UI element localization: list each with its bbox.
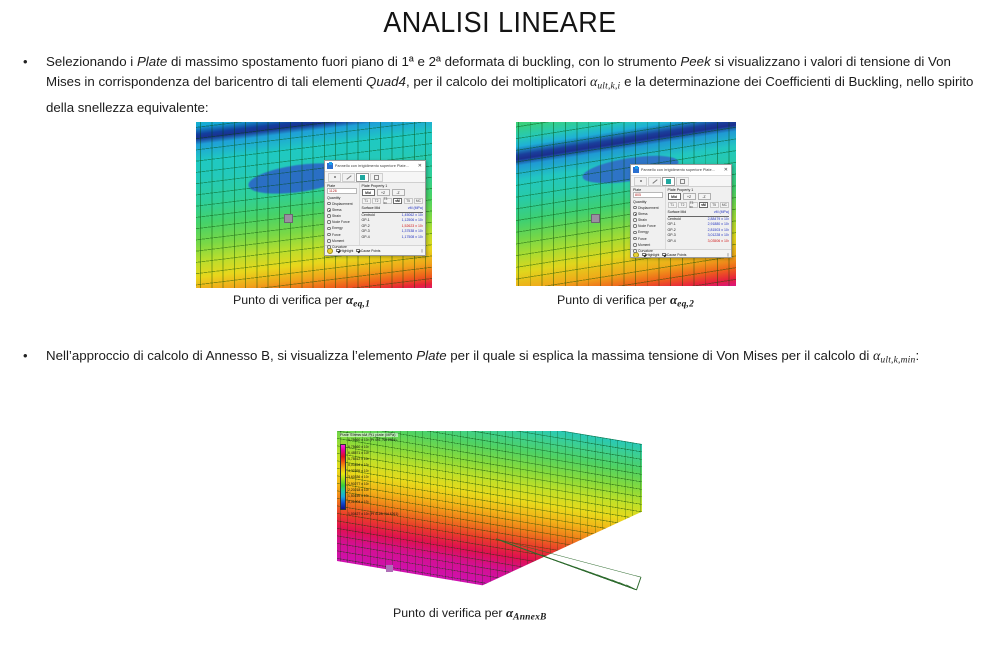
radio-icon[interactable] [633, 212, 637, 216]
femap-app-icon [327, 163, 333, 169]
math-subscript: eq,2 [677, 300, 694, 310]
radio-label: Energy [638, 230, 649, 234]
cause-points-checkbox[interactable]: Cause Points [662, 253, 686, 257]
legend-level: 2,20218 x 10² [348, 487, 369, 493]
peek-title-text: Pannello con irrigidimento superiore Pla… [641, 168, 722, 172]
radio-label: Node Force [638, 224, 656, 228]
resize-grip-icon[interactable]: ⸨ [727, 252, 729, 258]
tab-grid[interactable] [676, 177, 689, 186]
legend-level: 8,01004 x 10¹ [348, 499, 369, 505]
result-value: 1,17508 x 10² [390, 235, 423, 241]
figure-row-top: Pannello con irrigidimento superiore Pla… [0, 122, 1000, 322]
contour-legend: Plate Stress vM Pt1 plate (MPa) 6,75660 … [340, 433, 398, 517]
figure-caption-2: Punto di verifica per αeq,2 [557, 292, 694, 310]
radio-icon[interactable] [327, 245, 331, 249]
legend-color-bar [340, 444, 346, 510]
component-button-t1[interactable]: T1 [362, 198, 371, 205]
fem-contour-figure-2: Pannello con irrigidimento superiore Pla… [516, 122, 736, 286]
plate-id-input[interactable]: 805 [633, 192, 663, 198]
math-subscript: AnnexB [513, 613, 546, 623]
quantity-radio-list-2[interactable]: DisplacementStressStrainNode ForceEnergy… [633, 205, 663, 255]
figure-caption-3: Punto di verifica per αAnnexB [393, 605, 547, 623]
legend-level-values: 6,75660 x 10²6,48571 x 10²5,78512 x 10²5… [348, 444, 369, 510]
radio-icon[interactable] [633, 224, 637, 228]
component-button-t1[interactable]: T1 [668, 202, 677, 209]
radio-icon[interactable] [633, 243, 637, 247]
radio-label: Force [332, 233, 341, 237]
highlight-checkbox[interactable]: Highlight [336, 249, 353, 253]
radio-label: Stress [332, 208, 342, 212]
highlight-checkbox[interactable]: Highlight [642, 253, 659, 257]
math-subscript: ult,k,i [597, 82, 620, 92]
max-stress-plate-marker [386, 565, 393, 572]
tab-grid[interactable] [370, 173, 383, 182]
radio-icon[interactable] [327, 220, 331, 224]
radio-label: Strain [332, 214, 341, 218]
component-button-vm[interactable]: vM [699, 202, 708, 209]
surface-button-z[interactable]: +Z [377, 189, 390, 196]
component-button-mc[interactable]: MC [414, 198, 423, 205]
radio-label: Node Force [332, 220, 350, 224]
radio-icon[interactable] [633, 218, 637, 222]
figure-caption-1: Punto di verifica per αeq,1 [233, 292, 370, 310]
radio-icon[interactable] [327, 202, 331, 206]
radio-label: Energy [332, 226, 343, 230]
peek-titlebar-1[interactable]: Pannello con irrigidimento superiore Pla… [325, 161, 425, 172]
result-name: GP-4 [362, 235, 391, 241]
math-symbol: αAnnexB [506, 605, 547, 620]
surface-button-z[interactable]: -Z [698, 193, 711, 200]
emphasis-term: Peek [680, 54, 710, 69]
peek-quantity-panel-2: Plate 805 Quantity DisplacementStressStr… [631, 187, 666, 249]
component-button-t5[interactable]: T5 [404, 198, 413, 205]
component-button-mc[interactable]: MC [720, 202, 729, 209]
tab-dot[interactable] [634, 177, 647, 186]
tab-pen[interactable] [342, 173, 355, 182]
component-button-t3xx[interactable]: T3 xx [689, 202, 698, 209]
component-button-row-1[interactable]: T1T2T3 xxvMT5MC [362, 198, 424, 205]
radio-icon[interactable] [633, 206, 637, 210]
plate-property-label: Plate Property 1 [362, 184, 424, 188]
bullet-marker: • [20, 52, 46, 118]
radio-icon[interactable] [633, 231, 637, 235]
legend-level: 1,50159 x 10² [348, 493, 369, 499]
radio-icon[interactable] [327, 227, 331, 231]
math-subscript: ult,k,min [880, 356, 915, 366]
radio-icon[interactable] [633, 249, 637, 253]
legend-min-annotation: 1,00427 x 10² (Pt 4128, Nd 4261) [348, 511, 398, 517]
surface-button-z[interactable]: +Z [683, 193, 696, 200]
selected-plate-element-2 [591, 214, 600, 223]
peek-quantity-panel-1: Plate 1126 Quantity DisplacementStressSt… [325, 183, 360, 245]
peek-tabbar-1[interactable] [325, 172, 425, 183]
stiffener-fan-elements [496, 535, 642, 599]
femap-app-icon [633, 167, 639, 173]
tab-contour[interactable] [662, 177, 675, 186]
radio-icon[interactable] [327, 239, 331, 243]
quantity-group-label: Quantity [633, 200, 663, 204]
radio-icon[interactable] [327, 214, 331, 218]
peek-dialog-1[interactable]: Pannello con irrigidimento superiore Pla… [324, 160, 426, 256]
component-button-t2[interactable]: T2 [678, 202, 687, 209]
surface-button-row-2[interactable]: Mid+Z-Z [668, 193, 730, 200]
emphasis-term: Quad4 [366, 74, 406, 89]
component-button-t2[interactable]: T2 [372, 198, 381, 205]
close-icon[interactable]: ✕ [418, 164, 423, 169]
peek-titlebar-2[interactable]: Pannello con irrigidimento superiore Pla… [631, 165, 731, 176]
bullet-text-1: Selezionando i Plate di massimo spostame… [46, 52, 978, 118]
peek-dialog-2[interactable]: Pannello con irrigidimento superiore Pla… [630, 164, 732, 258]
peek-results-panel-1: Plate Property 1 Mid+Z-Z T1T2T3 xxvMT5MC… [360, 183, 426, 245]
bullet-paragraph-1: • Selezionando i Plate di massimo sposta… [0, 52, 1000, 118]
surface-button-mid[interactable]: Mid [362, 189, 375, 196]
radio-label: Stress [638, 212, 648, 216]
quantity-radio-list-1[interactable]: DisplacementStressStrainNode ForceEnergy… [327, 201, 357, 251]
legend-level: 2,90277 x 10² [348, 481, 369, 487]
bullet-paragraph-2: • Nell’approccio di calcolo di Annesso B… [0, 346, 1000, 371]
legend-level: 3,60336 x 10² [348, 474, 369, 480]
component-button-row-2[interactable]: T1T2T3 xxvMT5MC [668, 202, 730, 209]
emphasis-term: Plate [137, 54, 167, 69]
math-symbol: αeq,1 [346, 292, 370, 307]
component-button-t3xx[interactable]: T3 xx [383, 198, 392, 205]
radio-icon[interactable] [327, 208, 331, 212]
peek-title-text: Pannello con irrigidimento superiore Pla… [335, 164, 416, 168]
component-button-t5[interactable]: T5 [710, 202, 719, 209]
selected-plate-element-1 [284, 214, 293, 223]
peek-results-panel-2: Plate Property 1 Mid+Z-Z T1T2T3 xxvMT5MC… [666, 187, 732, 249]
radio-label: Moment [638, 243, 650, 247]
results-row: GP-43,03506 x 10² [668, 239, 730, 245]
math-symbol: αeq,2 [670, 292, 694, 307]
tab-pen[interactable] [648, 177, 661, 186]
fem-contour-figure-1: Pannello con irrigidimento superiore Pla… [196, 122, 432, 288]
emphasis-term: Plate [416, 348, 446, 363]
results-table-2: Surface MidvM (MPa)Centroid2,88479 x 10²… [668, 210, 730, 245]
surface-button-z[interactable]: -Z [392, 189, 405, 196]
radio-label: Moment [332, 239, 344, 243]
plate-id-input[interactable]: 1126 [327, 188, 357, 194]
legend-max-annotation: 6,75660 x 10² (Pt 491, Nd 2554) [348, 437, 398, 443]
peek-tabbar-2[interactable] [631, 176, 731, 187]
tab-contour[interactable] [356, 173, 369, 182]
result-name: GP-4 [668, 239, 697, 245]
plate-property-label: Plate Property 1 [668, 188, 730, 192]
surface-button-mid[interactable]: Mid [668, 193, 681, 200]
math-symbol: αult,k,i [590, 75, 620, 90]
surface-button-row-1[interactable]: Mid+Z-Z [362, 189, 424, 196]
bullet-marker: • [20, 346, 46, 371]
math-subscript: eq,1 [353, 300, 370, 310]
close-icon[interactable]: ✕ [724, 168, 729, 173]
radio-label: Displacement [638, 206, 659, 210]
component-button-vm[interactable]: vM [393, 198, 402, 205]
radio-label: Force [638, 237, 647, 241]
radio-icon[interactable] [633, 237, 637, 241]
page-title: ANALISI LINEARE [35, 8, 965, 40]
radio-label: Displacement [332, 202, 353, 206]
resize-grip-icon[interactable]: ⸨ [421, 248, 423, 254]
fem-contour-figure-3: Plate Stress vM Pt1 plate (MPa) 6,75660 … [337, 431, 642, 599]
result-value: 3,03506 x 10² [696, 239, 729, 245]
quantity-group-label: Quantity [327, 196, 357, 200]
radio-icon[interactable] [327, 233, 331, 237]
cause-points-checkbox[interactable]: Cause Points [356, 249, 380, 253]
math-symbol: αult,k,min [873, 349, 915, 364]
bullet-text-2: Nell’approccio di calcolo di Annesso B, … [46, 346, 978, 371]
results-row: GP-41,17508 x 10² [362, 235, 424, 241]
tab-dot[interactable] [328, 173, 341, 182]
results-table-1: Surface MidvM (MPa)Centroid1,45062 x 10²… [362, 206, 424, 241]
radio-label: Strain [638, 218, 647, 222]
